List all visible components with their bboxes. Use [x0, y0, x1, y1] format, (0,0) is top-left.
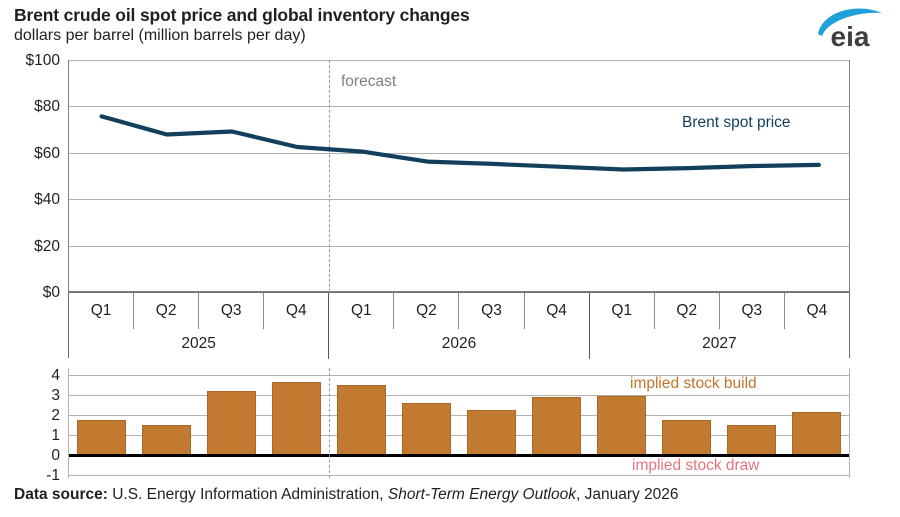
bar-slot	[329, 368, 394, 478]
bar-slot	[524, 368, 589, 478]
brent-price-line	[69, 60, 851, 292]
brent-spot-price-label: Brent spot price	[682, 114, 791, 132]
bar-slot	[69, 368, 134, 478]
bar-2025-q3	[207, 391, 255, 455]
bar-2027-q4	[792, 412, 840, 455]
bar-y-tick-2: 2	[0, 407, 60, 425]
forecast-divider-bottom	[329, 368, 330, 478]
data-source-date: , January 2026	[576, 486, 679, 503]
axis-quarter-cell: Q3	[459, 293, 524, 329]
quarter-year-axis: Q1 Q2 Q3 Q4 Q1 Q2 Q3 Q4 Q1 Q2 Q3 Q4 2025…	[68, 292, 850, 358]
price-plot-area: Brent spot price forecast	[68, 60, 850, 292]
axis-quarter-cell: Q4	[785, 293, 849, 329]
bar-y-tick-0: 0	[0, 447, 60, 465]
axis-quarter-cell: Q3	[720, 293, 785, 329]
axis-year-cell: 2025	[69, 329, 329, 359]
page-title: Brent crude oil spot price and global in…	[14, 4, 814, 26]
bar-2027-q3	[727, 425, 775, 455]
bar-2025-q2	[142, 425, 190, 455]
data-source-label: Data source:	[14, 486, 108, 503]
data-source-agency: U.S. Energy Information Administration,	[108, 486, 388, 503]
svg-text:eia: eia	[831, 21, 870, 50]
bar-2026-q4	[532, 397, 580, 455]
bar-slot	[459, 368, 524, 478]
bar-slot	[394, 368, 459, 478]
bar-2027-q2	[662, 420, 710, 455]
quarter-row: Q1 Q2 Q3 Q4 Q1 Q2 Q3 Q4 Q1 Q2 Q3 Q4	[69, 293, 849, 329]
y-tick-80: $80	[0, 98, 60, 116]
axis-quarter-cell: Q1	[69, 293, 134, 329]
bar-y-tick-3: 3	[0, 387, 60, 405]
bar-2025-q1	[77, 420, 125, 455]
inventory-plot-area: implied stock build implied stock draw	[68, 368, 850, 478]
page-subtitle: dollars per barrel (million barrels per …	[14, 26, 814, 46]
bar-2025-q4	[272, 382, 320, 455]
y-tick-100: $100	[0, 52, 60, 70]
chart-header: Brent crude oil spot price and global in…	[14, 4, 814, 46]
y-tick-20: $20	[0, 238, 60, 256]
axis-quarter-cell: Q2	[134, 293, 199, 329]
axis-quarter-cell: Q4	[525, 293, 590, 329]
bar-slot	[199, 368, 264, 478]
bar-2026-q2	[402, 403, 450, 455]
data-source-footer: Data source: U.S. Energy Information Adm…	[14, 486, 679, 504]
y-tick-0: $0	[0, 284, 60, 302]
year-row: 2025 2026 2027	[69, 329, 849, 359]
forecast-label: forecast	[341, 73, 396, 91]
brent-price-chart: $100 $80 $60 $40 $20 $0 Brent spot price…	[0, 52, 900, 302]
bar-y-tick-1: 1	[0, 427, 60, 445]
bar-2026-q3	[467, 410, 515, 455]
bar-slot	[134, 368, 199, 478]
data-source-publication: Short-Term Energy Outlook	[388, 486, 576, 503]
bar-y-tick-4: 4	[0, 367, 60, 385]
bar-slot	[784, 368, 849, 478]
axis-year-cell: 2027	[590, 329, 849, 359]
axis-quarter-cell: Q3	[199, 293, 264, 329]
axis-quarter-cell: Q2	[394, 293, 459, 329]
inventory-change-chart: 4 3 2 1 0 -1 implied stock build implied	[0, 368, 900, 480]
y-tick-60: $60	[0, 145, 60, 163]
axis-quarter-cell: Q4	[264, 293, 329, 329]
implied-stock-build-label: implied stock build	[630, 375, 757, 393]
bar-y-tick-neg1: -1	[0, 467, 60, 485]
eia-logo-icon: eia	[812, 4, 888, 50]
bar-2027-q1	[597, 396, 645, 455]
bar-2026-q1	[337, 385, 385, 455]
bar-slot	[264, 368, 329, 478]
axis-quarter-cell: Q1	[590, 293, 655, 329]
axis-year-cell: 2026	[329, 329, 589, 359]
y-tick-40: $40	[0, 191, 60, 209]
axis-quarter-cell: Q2	[655, 293, 720, 329]
implied-stock-draw-label: implied stock draw	[632, 457, 760, 475]
axis-quarter-cell: Q1	[329, 293, 394, 329]
